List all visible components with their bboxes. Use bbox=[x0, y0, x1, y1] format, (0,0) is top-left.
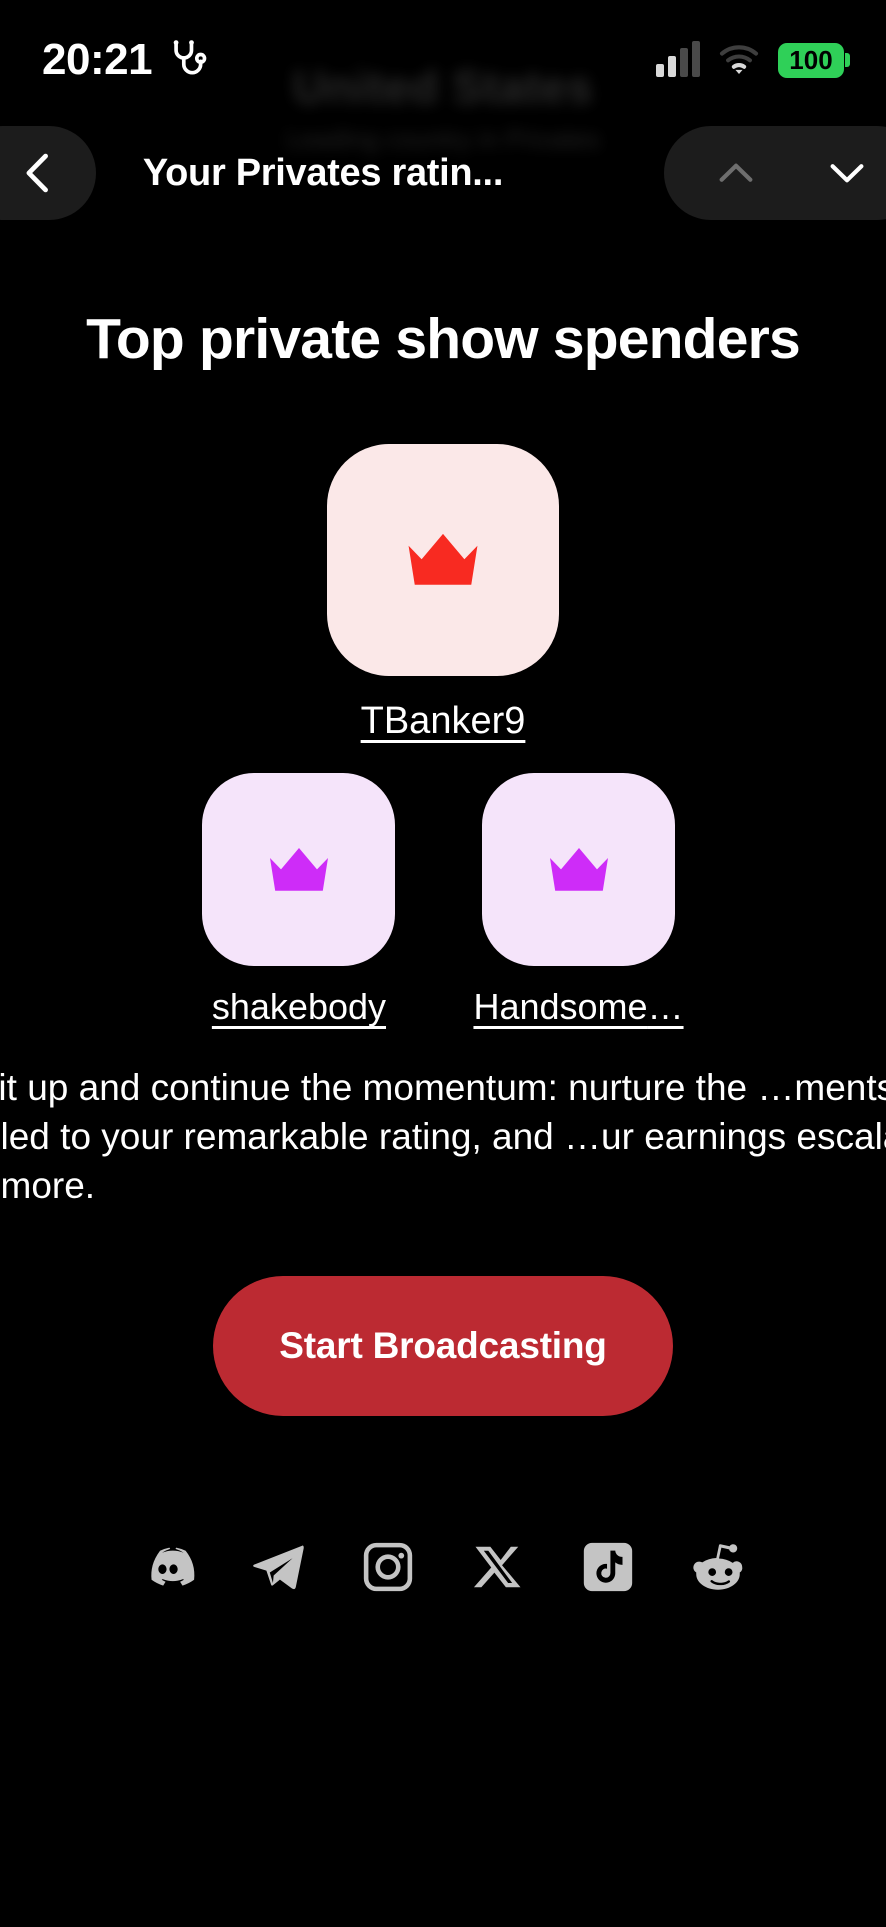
x-icon[interactable] bbox=[469, 1538, 527, 1596]
crown-icon bbox=[547, 845, 611, 895]
status-bar: 20:21 100 bbox=[0, 0, 886, 120]
ellipsis-truncation: … bbox=[648, 986, 684, 1027]
spender-rank-3: Handsome… bbox=[473, 773, 683, 1028]
chevron-up-icon bbox=[713, 150, 759, 196]
crown-icon bbox=[405, 530, 481, 590]
status-bar-right: 100 bbox=[656, 43, 844, 78]
status-bar-left: 20:21 bbox=[42, 38, 210, 82]
spenders-podium: TBanker9 shakebody bbox=[0, 444, 886, 1028]
spender-username-rank-1[interactable]: TBanker9 bbox=[361, 700, 526, 743]
status-bar-clock: 20:21 bbox=[42, 38, 152, 82]
spender-username-rank-3[interactable]: Handsome… bbox=[473, 986, 683, 1028]
reddit-icon[interactable] bbox=[689, 1538, 747, 1596]
previous-button[interactable] bbox=[713, 150, 759, 196]
spenders-second-row: shakebody Handsome… bbox=[0, 773, 886, 1028]
main-content: Top private show spenders TBanker9 bbox=[0, 220, 886, 1596]
start-broadcasting-button[interactable]: Start Broadcasting bbox=[213, 1276, 673, 1416]
wifi-icon bbox=[718, 43, 760, 77]
instagram-icon[interactable] bbox=[359, 1538, 417, 1596]
cta-container: Start Broadcasting bbox=[0, 1276, 886, 1416]
discord-icon[interactable] bbox=[139, 1538, 197, 1596]
tiktok-icon[interactable] bbox=[579, 1538, 637, 1596]
spender-rank-1: TBanker9 bbox=[327, 444, 559, 743]
section-heading: Top private show spenders bbox=[0, 306, 886, 372]
prev-next-controls bbox=[664, 126, 886, 220]
telegram-icon[interactable] bbox=[249, 1538, 307, 1596]
avatar-tile-rank-3[interactable] bbox=[482, 773, 675, 966]
spender-rank-2: shakebody bbox=[202, 773, 395, 1028]
avatar-tile-rank-2[interactable] bbox=[202, 773, 395, 966]
spender-username-rank-3-text: Handsome bbox=[473, 986, 647, 1027]
congrats-blurb: …ep it up and continue the momentum: nur… bbox=[0, 1064, 886, 1210]
social-links bbox=[0, 1538, 886, 1596]
stethoscope-icon bbox=[166, 38, 210, 82]
next-button[interactable] bbox=[824, 150, 870, 196]
avatar-tile-rank-1[interactable] bbox=[327, 444, 559, 676]
phone-screen: United States Leading country in Private… bbox=[0, 0, 886, 1927]
crown-icon bbox=[267, 845, 331, 895]
navigation-bar: Your Privates ratin... bbox=[0, 126, 886, 220]
chevron-down-icon bbox=[824, 150, 870, 196]
spender-username-rank-2[interactable]: shakebody bbox=[212, 986, 386, 1028]
cellular-signal-icon bbox=[656, 43, 700, 77]
battery-indicator: 100 bbox=[778, 43, 844, 78]
